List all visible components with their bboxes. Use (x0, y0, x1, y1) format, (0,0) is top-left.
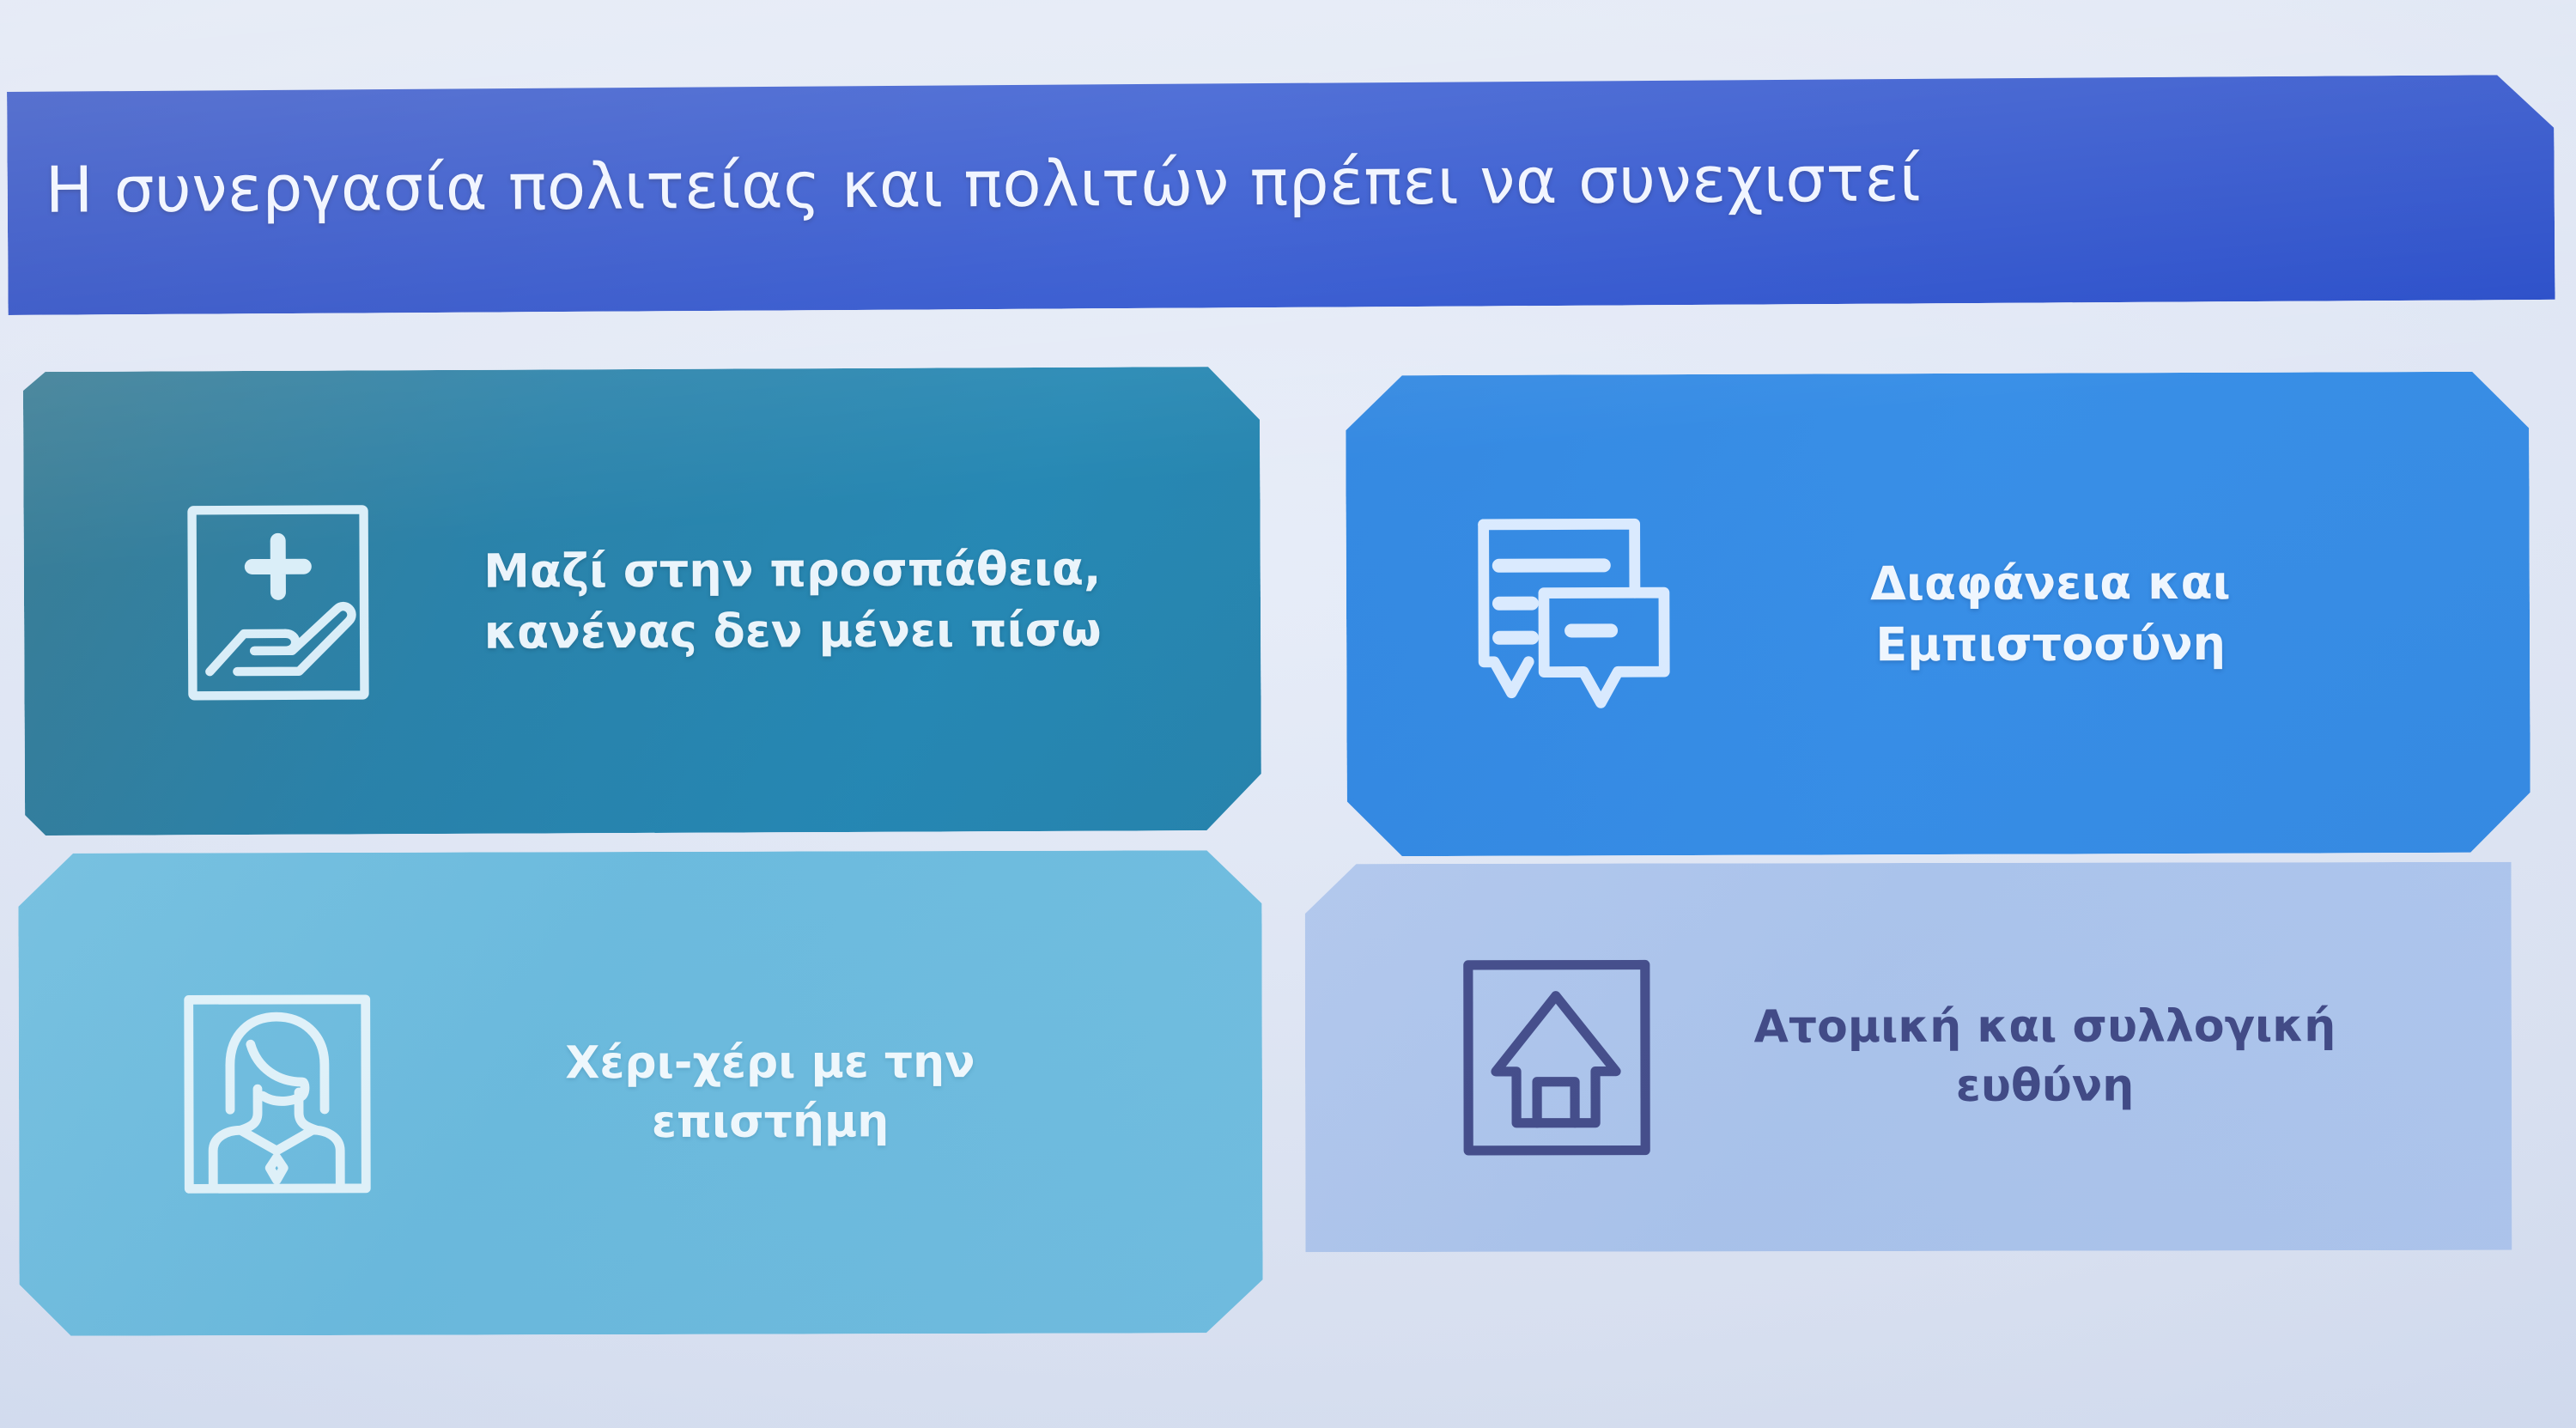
slide-title-bar: Η συνεργασία πολιτείας και πολιτών πρέπε… (7, 75, 2555, 315)
card-hand-in-hand-science[interactable]: Χέρι-χέρι με την επιστήμη (18, 850, 1262, 1336)
card-label: Ατομική και συλλογική ευθύνη (1652, 997, 2438, 1116)
scientist-portrait-icon (182, 993, 374, 1196)
card-label: Διαφάνεια και Εμπιστοσύνη (1674, 551, 2427, 677)
card-label: Χέρι-χέρι με την επιστήμη (373, 1033, 1168, 1153)
card-transparency-trust[interactable]: Διαφάνεια και Εμπιστοσύνη (1346, 372, 2530, 857)
page-title: Η συνεργασία πολιτείας και πολιτών πρέπε… (45, 142, 1921, 227)
card-label: Μαζί στην προσπάθεια, κανένας δεν μένει … (371, 538, 1215, 664)
card-individual-collective-responsibility[interactable]: Ατομική και συλλογική ευθύνη (1305, 862, 2512, 1252)
house-icon (1461, 958, 1652, 1158)
speech-bubbles-icon (1477, 513, 1675, 717)
card-together-effort[interactable]: Μαζί στην προσπάθεια, κανένας δεν μένει … (23, 367, 1261, 836)
hand-with-plus-icon (185, 502, 371, 702)
